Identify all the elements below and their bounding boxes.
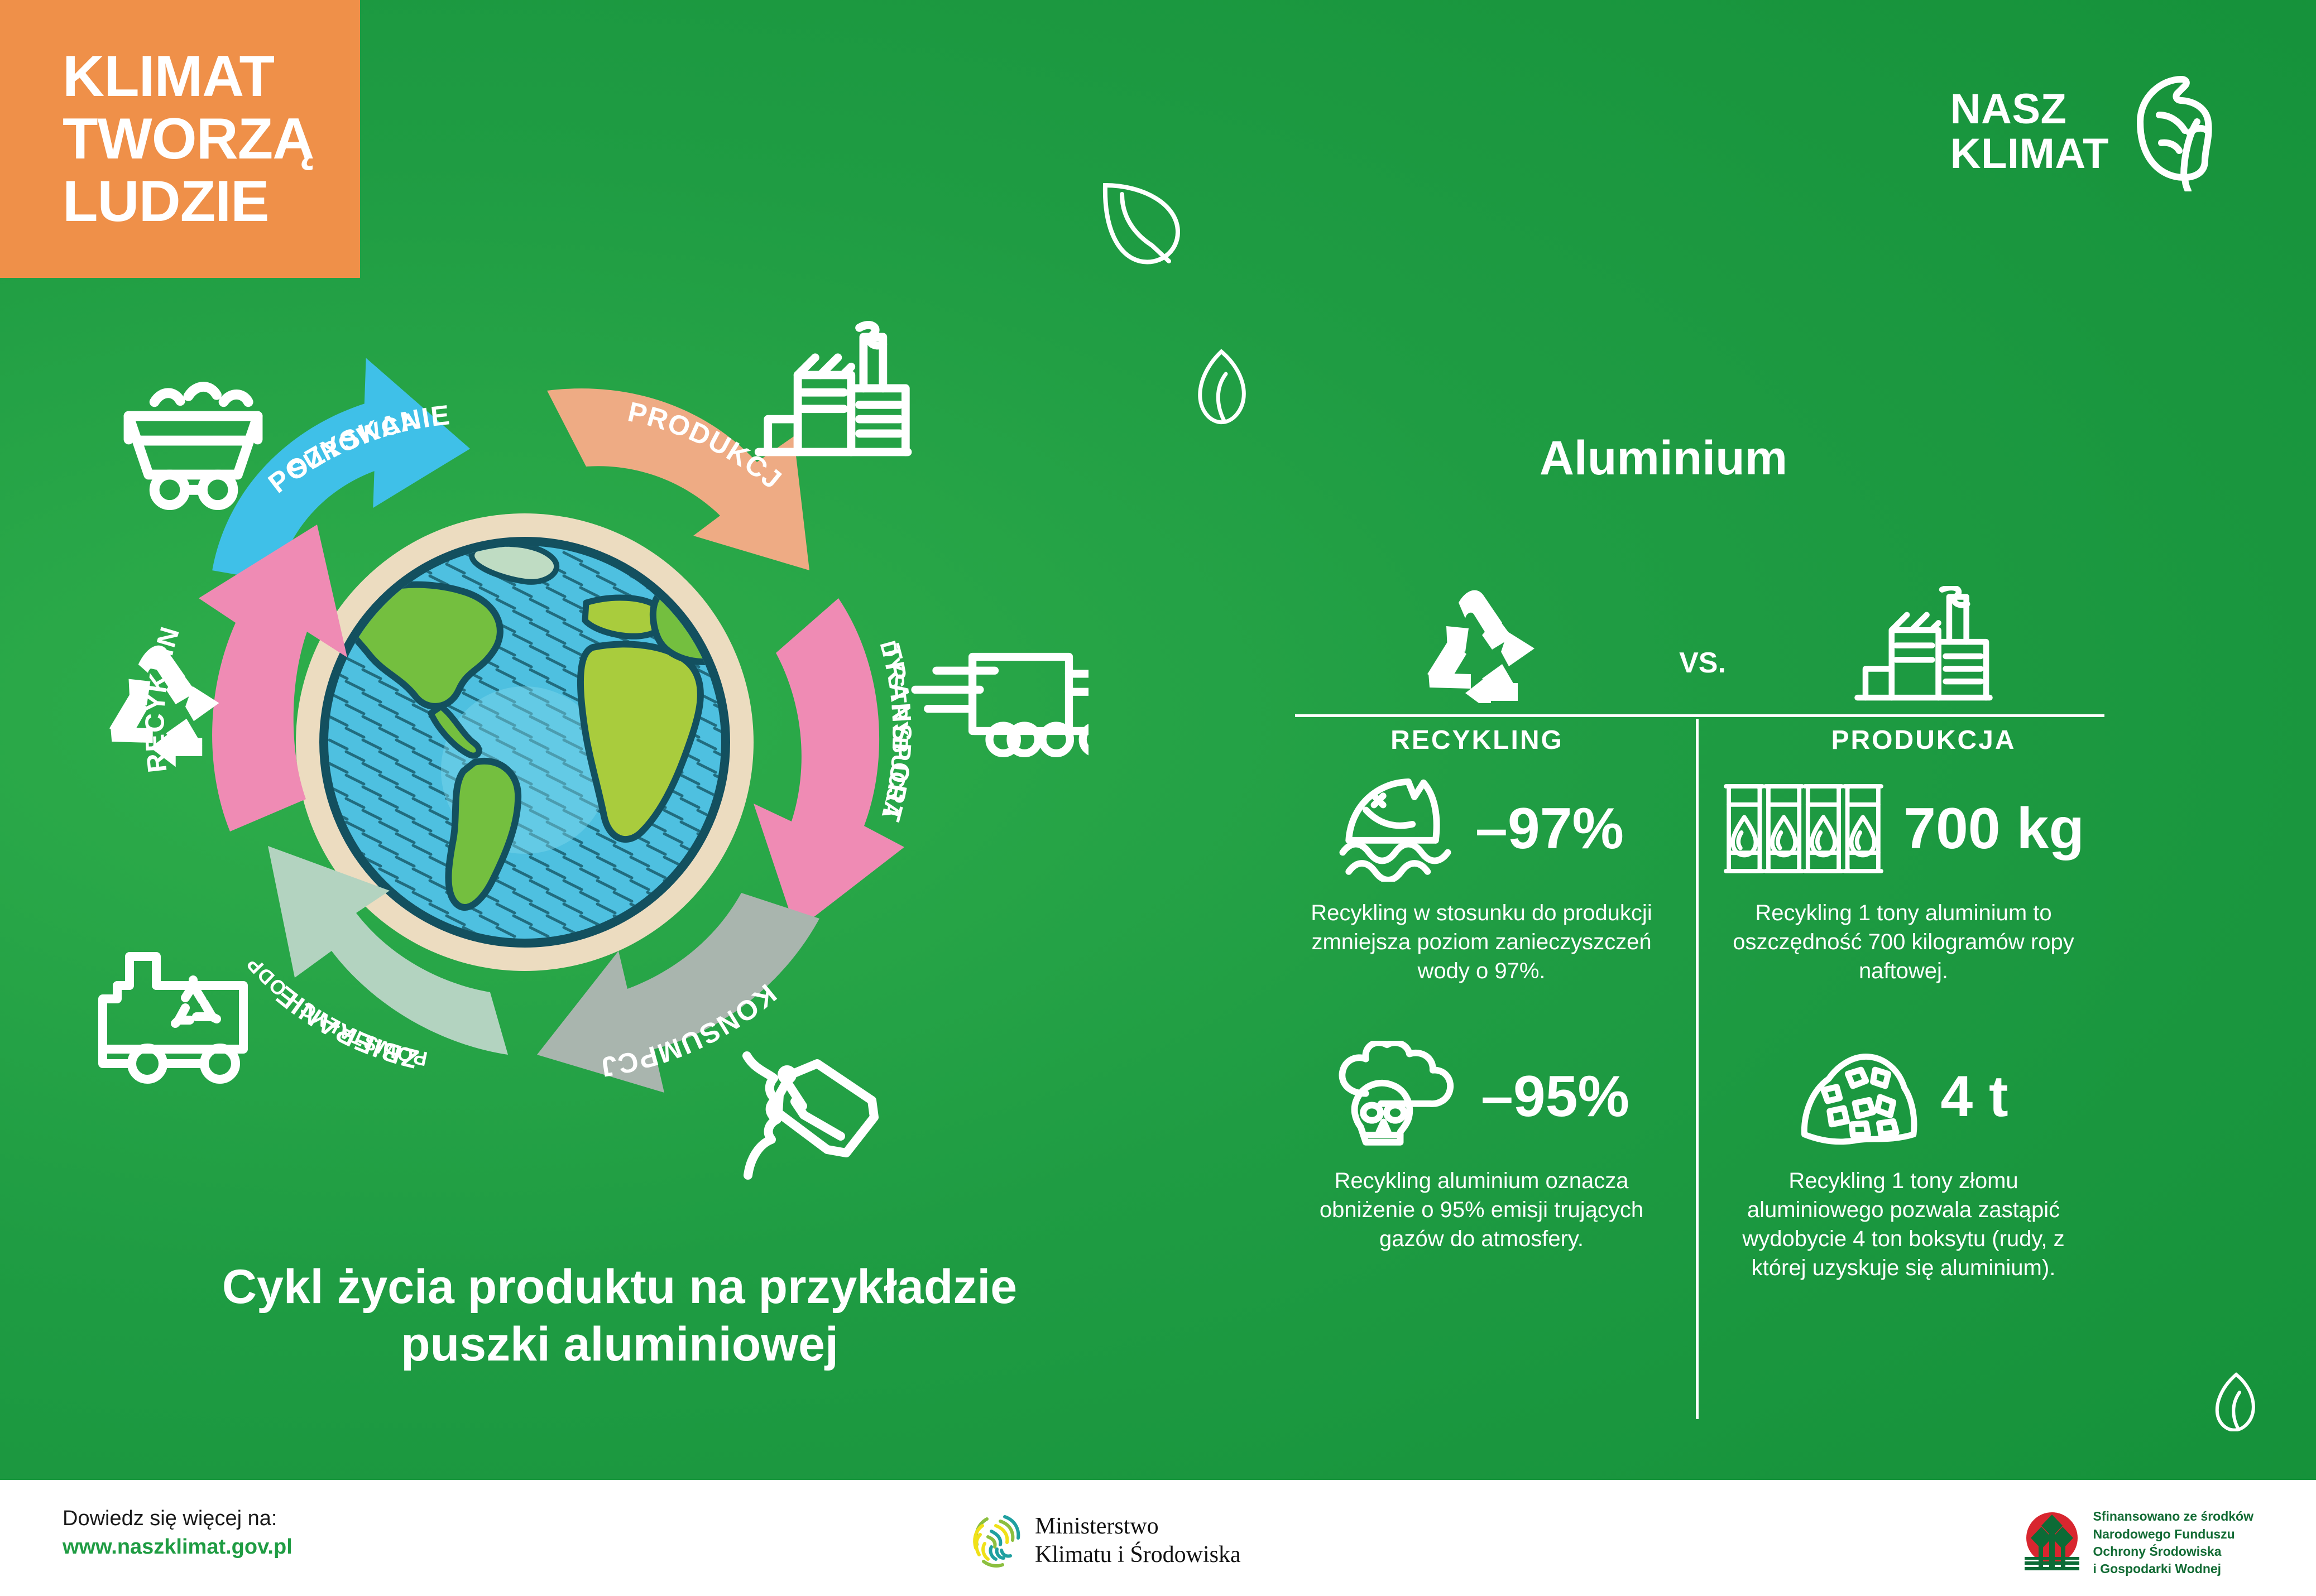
panel-vertical-divider xyxy=(1696,719,1699,1419)
column-head-recykling: RECYKLING xyxy=(1298,586,1656,756)
product-life-cycle-diagram: POZYSKANIE SUROWCA PRODUKCJA TRANSPORT xyxy=(84,313,1089,1261)
stat-caption-bauxite: Recykling 1 tony złomu aluminiowego pozw… xyxy=(1708,1166,2099,1282)
oil-barrels-icon xyxy=(1723,776,1885,882)
stat-caption-oil: Recykling 1 tony aluminium to oszczędnoś… xyxy=(1708,898,2099,986)
drinking-can-icon xyxy=(747,1056,874,1175)
funding-line-1: Sfinansowano ze środków xyxy=(2093,1508,2253,1525)
toxic-cloud-skull-icon xyxy=(1334,1041,1462,1152)
ministry-line-2: Klimatu i Środowiska xyxy=(1035,1541,1241,1569)
ministry-emblem-icon xyxy=(971,1510,1023,1571)
truck-icon xyxy=(915,657,1089,753)
brand-badge-line-1: KLIMAT xyxy=(63,45,360,108)
stat-oil: 700 kg Recykling 1 tony aluminium to osz… xyxy=(1708,759,2099,986)
funding-line-4: i Gospodarki Wodnej xyxy=(2093,1560,2253,1578)
footer: Dowiedz się więcej na: www.naszklimat.go… xyxy=(0,1480,2316,1596)
funding-line-2: Narodowego Funduszu xyxy=(2093,1526,2253,1543)
stat-water: –97% Recykling w stosunku do produkcji z… xyxy=(1286,759,1677,986)
column-label-recykling: RECYKLING xyxy=(1298,725,1656,756)
nasz-klimat-logo: NASZ KLIMAT xyxy=(1950,71,2227,191)
stat-gas: –95% Recykling aluminium oznacza obniżen… xyxy=(1286,1027,1677,1253)
leaf-decoration-icon xyxy=(1093,167,1188,279)
mining-cart-icon xyxy=(129,387,258,505)
nfosigw-logo: Sfinansowano ze środków Narodowego Fundu… xyxy=(2022,1508,2253,1578)
brand-badge-line-3: LUDZIE xyxy=(63,170,360,233)
vs-label: VS. xyxy=(1663,646,1742,680)
stat-value-gas: –95% xyxy=(1481,1064,1629,1130)
dead-fish-water-icon xyxy=(1339,776,1456,882)
stat-bauxite: 4 t Recykling 1 tony złomu aluminiowego … xyxy=(1708,1027,2099,1282)
footer-cta-label: Dowiedz się więcej na: xyxy=(63,1504,293,1533)
aluminium-comparison-panel: Aluminium RECYKLING VS. xyxy=(1295,413,2244,1440)
poster-background: KLIMAT TWORZĄ LUDZIE NASZ KLIMAT xyxy=(0,0,2316,1596)
stat-value-bauxite: 4 t xyxy=(1940,1064,2008,1130)
nasz-klimat-line-2: KLIMAT xyxy=(1950,132,2109,176)
page-title: Cykl życia produktu na przykładzie puszk… xyxy=(167,1258,1072,1373)
cycle-arrow-transport-dystrybucja: TRANSPORT DYSTRYBUCJA xyxy=(754,598,917,931)
brand-badge: KLIMAT TWORZĄ LUDZIE xyxy=(0,0,360,278)
recycle-icon xyxy=(1418,586,1536,703)
funding-line-3: Ochrony Środowiska xyxy=(2093,1543,2253,1560)
garbage-truck-icon xyxy=(103,956,243,1079)
page-title-line-2: puszki aluminiowej xyxy=(167,1316,1072,1373)
factory-icon xyxy=(1854,586,1993,703)
panel-title: Aluminium xyxy=(1295,431,2032,486)
page-title-line-1: Cykl życia produktu na przykładzie xyxy=(167,1258,1072,1316)
ore-pile-icon xyxy=(1799,1044,1921,1150)
nasz-klimat-line-1: NASZ xyxy=(1950,87,2109,131)
footer-cta: Dowiedz się więcej na: www.naszklimat.go… xyxy=(63,1504,293,1562)
leaf-hand-logo-icon xyxy=(2123,71,2227,191)
nasz-klimat-wordmark: NASZ KLIMAT xyxy=(1950,87,2109,175)
stat-value-water: –97% xyxy=(1475,796,1624,862)
ministry-line-1: Ministerstwo xyxy=(1035,1512,1241,1541)
ministry-wordmark: Ministerstwo Klimatu i Środowiska xyxy=(1035,1512,1241,1569)
stat-value-oil: 700 kg xyxy=(1903,796,2084,862)
nfosigw-emblem-icon xyxy=(2022,1508,2082,1578)
panel-horizontal-divider xyxy=(1295,714,2104,717)
footer-cta-url[interactable]: www.naszklimat.gov.pl xyxy=(63,1533,293,1561)
stat-caption-water: Recykling w stosunku do produkcji zmniej… xyxy=(1286,898,1677,986)
leaf-decoration-small-icon xyxy=(1188,346,1255,430)
nfosigw-funding-text: Sfinansowano ze środków Narodowego Fundu… xyxy=(2093,1508,2253,1578)
column-label-produkcja: PRODUKCJA xyxy=(1745,725,2102,756)
brand-badge-line-2: TWORZĄ xyxy=(63,108,360,170)
factory-icon xyxy=(759,325,908,452)
column-head-produkcja: PRODUKCJA xyxy=(1745,586,2102,756)
stat-caption-gas: Recykling aluminium oznacza obniżenie o … xyxy=(1286,1166,1677,1253)
ministry-logo: Ministerstwo Klimatu i Środowiska xyxy=(971,1510,1241,1571)
